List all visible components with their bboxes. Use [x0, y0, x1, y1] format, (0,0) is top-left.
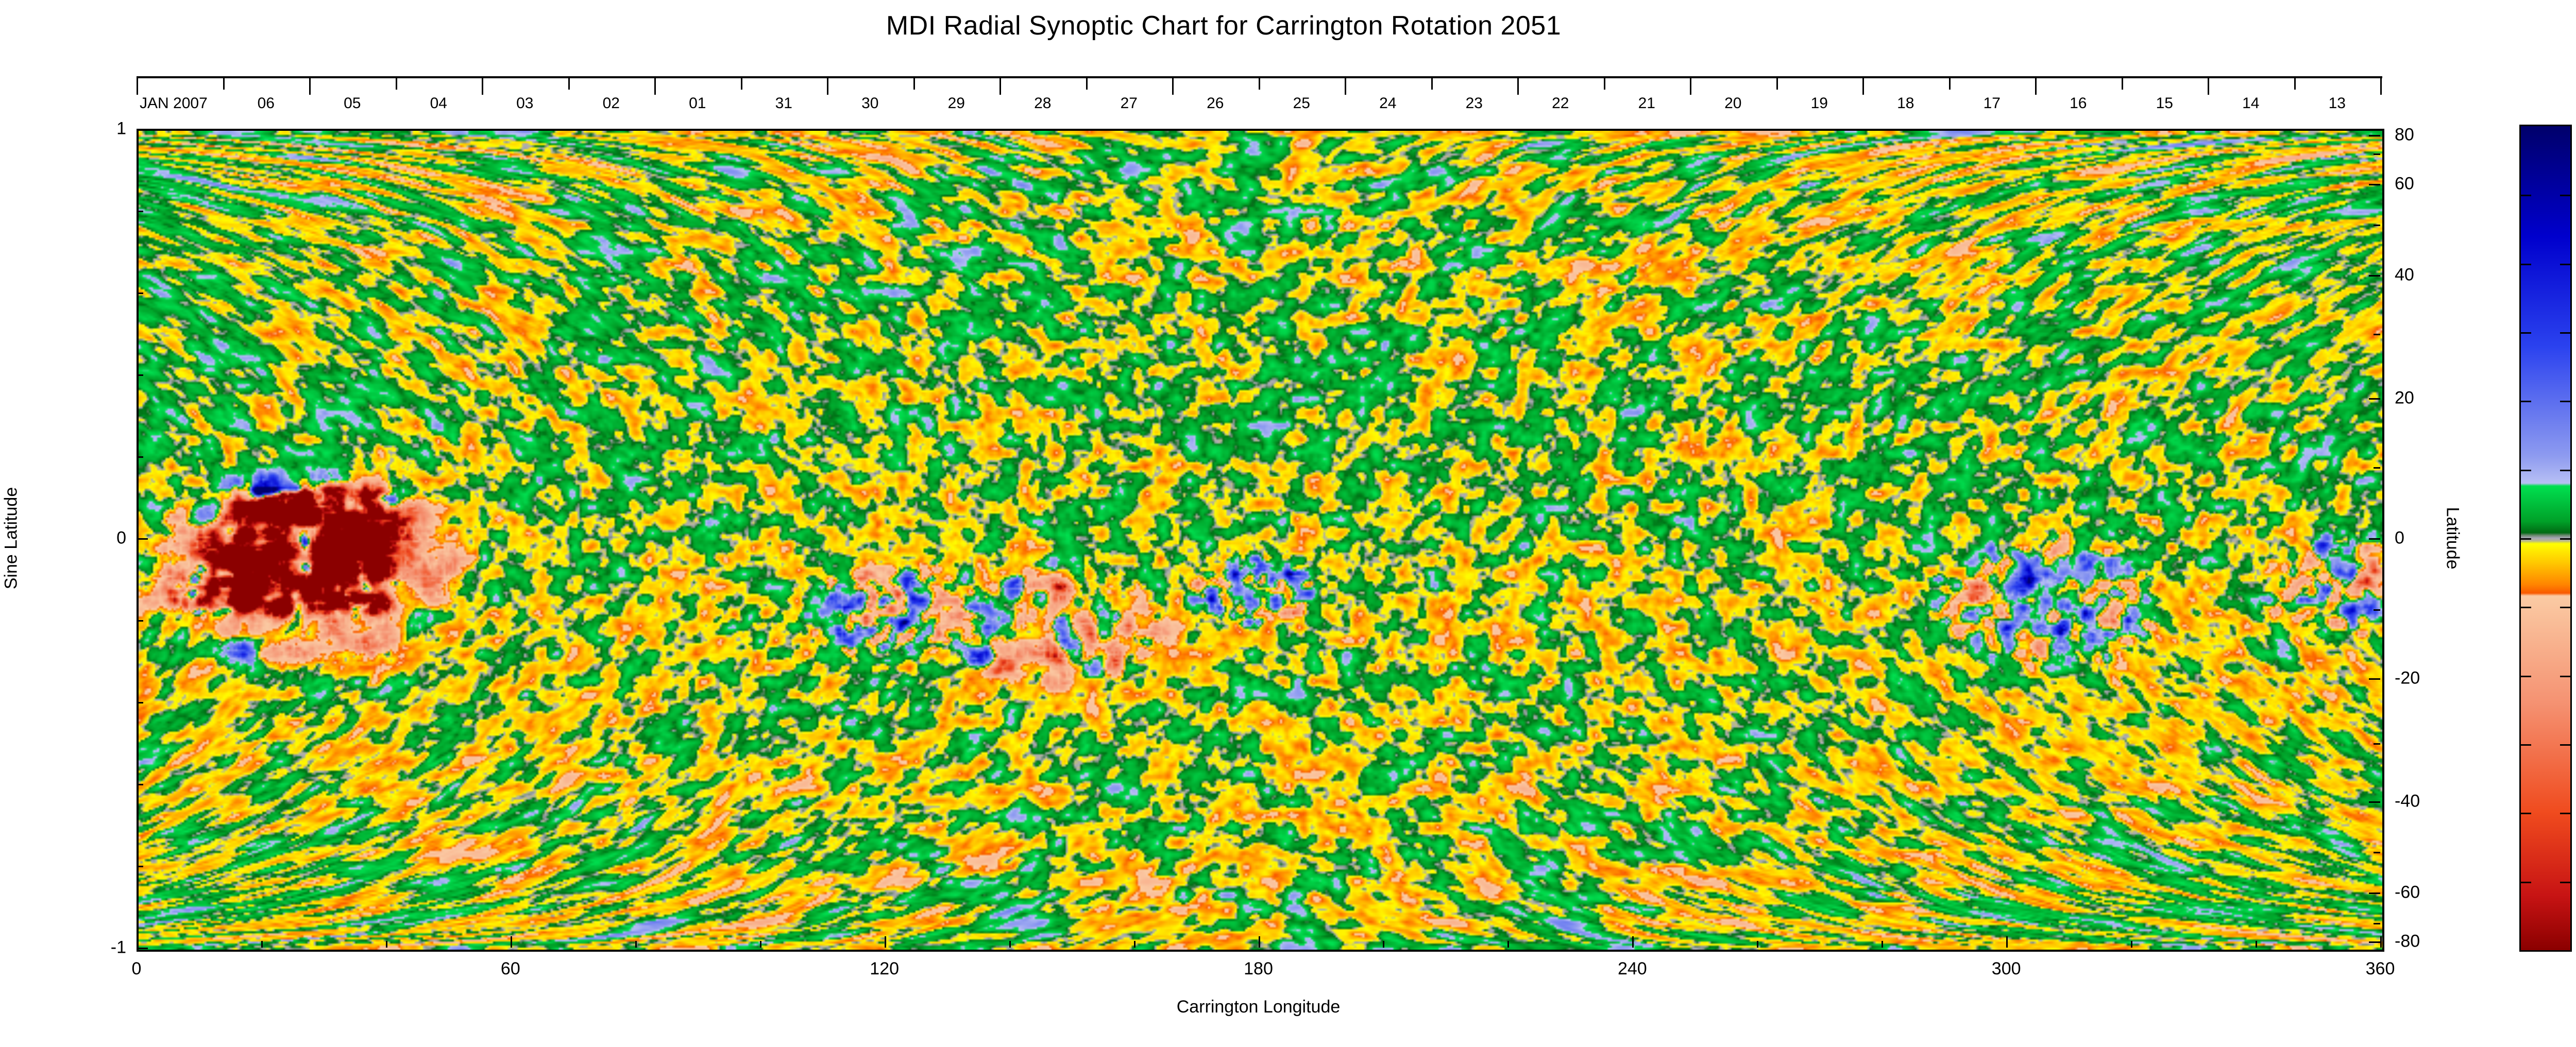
colorbar-tick [2560, 470, 2570, 471]
colorbar-tick [2560, 607, 2570, 608]
x-axis-tick-minor [1009, 941, 1011, 948]
y-axis-tick-minor-right [2374, 467, 2380, 469]
y-axis-tick-major-right [2369, 538, 2380, 540]
top-axis-tick [1776, 78, 1778, 90]
y-axis-tick-minor-right [2374, 153, 2380, 155]
colorbar-tick [2560, 744, 2570, 746]
magnetogram-image [139, 131, 2382, 950]
top-axis-tick [1431, 78, 1433, 90]
x-axis-tick-major [2380, 936, 2382, 948]
x-axis-title: Carrington Longitude [137, 997, 2380, 1017]
top-axis-label-17: 21 [1638, 95, 1655, 112]
x-axis-tick-minor [261, 941, 263, 948]
top-axis-label-22: 16 [2070, 95, 2087, 112]
top-axis-label-23: 15 [2156, 95, 2173, 112]
colorbar-tick [2521, 538, 2531, 540]
top-axis-tick [1259, 78, 1260, 90]
top-axis-tick [1517, 78, 1519, 95]
colorbar-tick [2521, 264, 2531, 265]
x-axis-tick-minor [1882, 941, 1883, 948]
x-axis-tick-minor [1757, 941, 1758, 948]
top-axis-label-15: 23 [1466, 95, 1483, 112]
x-axis-tick-major [511, 936, 512, 948]
y-axis-tick-minor-left [137, 784, 143, 785]
page-title: MDI Radial Synoptic Chart for Carrington… [0, 10, 2447, 41]
top-axis-tick [741, 78, 742, 90]
y-axis-label-right-4: 0 [2395, 528, 2404, 548]
top-axis-tick [1949, 78, 1951, 90]
y-axis-tick-minor-right [2374, 743, 2380, 745]
top-axis-tick [223, 78, 225, 90]
x-axis-tick-major [1259, 936, 1260, 948]
top-axis-label-14: 24 [1379, 95, 1396, 112]
x-axis-tick-minor [386, 941, 387, 948]
top-axis-label-2: 05 [344, 95, 361, 112]
y-axis-label-left-2: -1 [111, 938, 126, 958]
colorbar-tick [2521, 744, 2531, 746]
top-axis-label-3: 04 [430, 95, 447, 112]
top-axis-tick [2294, 78, 2296, 90]
y-axis-label-right-5: -20 [2395, 668, 2420, 688]
chart-page: MDI Radial Synoptic Chart for Carrington… [0, 0, 2576, 1047]
y-axis-tick-major-right [2369, 135, 2380, 136]
top-axis-tick [396, 78, 397, 90]
colorbar-tick [2521, 195, 2531, 196]
colorbar-tick [2521, 332, 2531, 334]
y-axis-label-right-6: -40 [2395, 792, 2420, 812]
top-axis-tick [1172, 78, 1174, 95]
y-axis-tick-minor-left [137, 866, 143, 867]
top-axis-tick [827, 78, 828, 95]
x-axis-tick-major [885, 936, 886, 948]
colorbar-tick [2521, 401, 2531, 402]
top-axis-tick [568, 78, 570, 90]
y-axis-tick-minor-right [2374, 852, 2380, 853]
top-axis-tick [137, 78, 138, 95]
y-axis-title-right: Latitude [2443, 507, 2463, 570]
x-axis-label-6: 360 [2366, 959, 2395, 979]
top-axis-label-9: 29 [948, 95, 965, 112]
top-axis-label-6: 01 [689, 95, 706, 112]
top-axis-label-11: 27 [1121, 95, 1138, 112]
y-axis-label-left-0: 1 [116, 119, 126, 139]
y-axis-tick-minor-left [137, 293, 143, 294]
y-axis-tick-major-left [137, 129, 148, 130]
y-axis-tick-minor-right [2374, 923, 2380, 924]
top-axis-tick [2380, 78, 2382, 95]
y-axis-tick-major-left [137, 538, 148, 540]
top-axis-label-19: 19 [1811, 95, 1828, 112]
top-axis-tick [2122, 78, 2123, 90]
top-axis-label-12: 26 [1207, 95, 1224, 112]
top-axis-tick [482, 78, 483, 95]
colorbar-tick [2560, 264, 2570, 265]
x-axis-label-3: 180 [1244, 959, 1273, 979]
colorbar-tick [2560, 676, 2570, 677]
top-axis-tick [1086, 78, 1088, 90]
top-axis-label-7: 31 [775, 95, 792, 112]
colorbar-tick [2521, 607, 2531, 608]
colorbar-tick [2521, 470, 2531, 471]
colorbar-tick [2521, 813, 2531, 814]
colorbar-tick [2521, 676, 2531, 677]
colorbar-tick [2560, 538, 2570, 540]
top-axis-tick [913, 78, 915, 90]
colorbar-tick [2560, 813, 2570, 814]
y-axis-tick-major-right [2369, 892, 2380, 894]
top-axis-tick [1604, 78, 1605, 90]
y-axis-tick-major-left [137, 948, 148, 949]
top-axis-tick [1690, 78, 1691, 95]
top-date-axis [137, 76, 2382, 78]
top-axis-label-4: 03 [516, 95, 533, 112]
y-axis-tick-minor-left [137, 620, 143, 622]
x-axis-tick-minor [635, 941, 637, 948]
top-axis-label-20: 18 [1897, 95, 1914, 112]
colorbar-tick [2560, 882, 2570, 883]
top-axis-tick [654, 78, 656, 95]
top-axis-label-0: JAN 2007 [140, 95, 208, 112]
top-axis-tick [309, 78, 311, 95]
x-axis-tick-minor [760, 941, 761, 948]
top-axis-label-16: 22 [1552, 95, 1569, 112]
top-axis-label-21: 17 [1984, 95, 2001, 112]
top-axis-label-24: 14 [2242, 95, 2259, 112]
colorbar-tick [2560, 401, 2570, 402]
y-axis-tick-minor-left [137, 374, 143, 376]
top-axis-label-25: 13 [2329, 95, 2346, 112]
x-axis-label-4: 240 [1618, 959, 1647, 979]
colorbar-tick [2560, 195, 2570, 196]
x-axis-label-5: 300 [1992, 959, 2021, 979]
y-axis-label-left-1: 0 [116, 528, 126, 548]
colorbar-tick [2521, 882, 2531, 883]
x-axis-tick-minor [1507, 941, 1509, 948]
top-axis-tick [2035, 78, 2037, 95]
top-axis-tick [1345, 78, 1346, 95]
y-axis-label-right-0: 80 [2395, 125, 2414, 145]
x-axis-tick-major [2006, 936, 2008, 948]
top-axis-label-1: 06 [258, 95, 275, 112]
y-axis-label-right-7: -60 [2395, 883, 2420, 903]
y-axis-tick-major-right [2369, 398, 2380, 400]
x-axis-tick-minor [1134, 941, 1136, 948]
colorbar-tick [2560, 332, 2570, 334]
x-axis-label-0: 0 [132, 959, 142, 979]
y-axis-tick-major-right [2369, 941, 2380, 943]
y-axis-tick-major-right [2369, 275, 2380, 277]
x-axis-label-1: 60 [501, 959, 520, 979]
y-axis-label-right-3: 20 [2395, 388, 2414, 408]
y-axis-tick-major-right [2369, 678, 2380, 680]
top-axis-label-5: 02 [603, 95, 620, 112]
x-axis-tick-major [1632, 936, 1634, 948]
y-axis-label-right-2: 40 [2395, 265, 2414, 285]
top-axis-label-18: 20 [1724, 95, 1741, 112]
x-axis-tick-major [137, 936, 138, 948]
x-axis-label-2: 120 [870, 959, 899, 979]
synoptic-map-panel [137, 129, 2384, 952]
y-axis-tick-minor-left [137, 702, 143, 703]
y-axis-label-right-1: 60 [2395, 174, 2414, 194]
y-axis-label-right-8: -80 [2395, 931, 2420, 951]
y-axis-tick-minor-right [2374, 609, 2380, 611]
y-axis-tick-minor-left [137, 211, 143, 212]
y-axis-tick-major-right [2369, 184, 2380, 185]
top-axis-label-10: 28 [1034, 95, 1051, 112]
colorbar [2519, 125, 2572, 952]
top-axis-label-8: 30 [861, 95, 878, 112]
y-axis-tick-major-right [2369, 801, 2380, 803]
top-axis-label-13: 25 [1293, 95, 1310, 112]
y-axis-tick-minor-right [2374, 334, 2380, 335]
y-axis-tick-minor-left [137, 456, 143, 458]
y-axis-title-left: Sine Latitude [2, 487, 22, 590]
y-axis-tick-minor-right [2374, 225, 2380, 226]
x-axis-tick-minor [1383, 941, 1384, 948]
x-axis-tick-minor [2256, 941, 2257, 948]
top-axis-tick [999, 78, 1001, 95]
top-axis-tick [1862, 78, 1864, 95]
x-axis-tick-minor [2131, 941, 2132, 948]
top-axis-tick [2208, 78, 2209, 95]
